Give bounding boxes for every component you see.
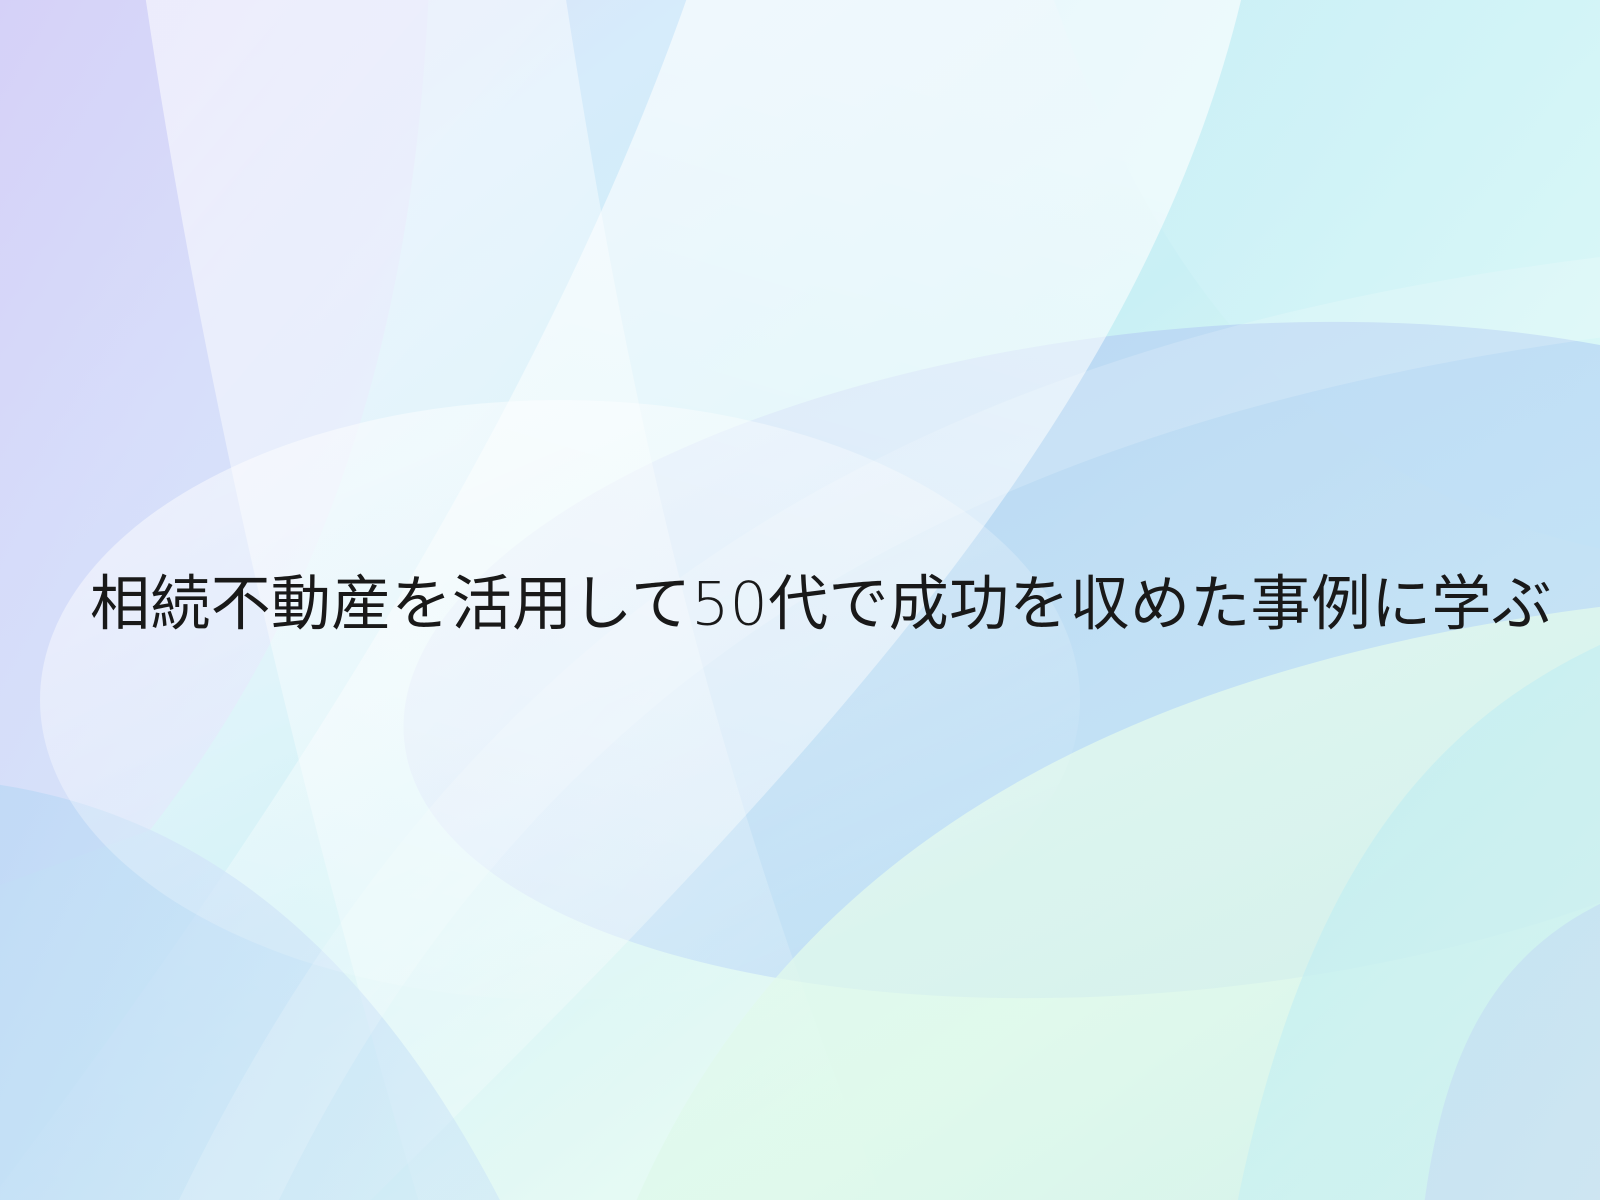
slide-background [0,0,1600,1200]
presentation-slide: 相続不動産を活用して50代で成功を収めた事例に学ぶ [0,0,1600,1200]
